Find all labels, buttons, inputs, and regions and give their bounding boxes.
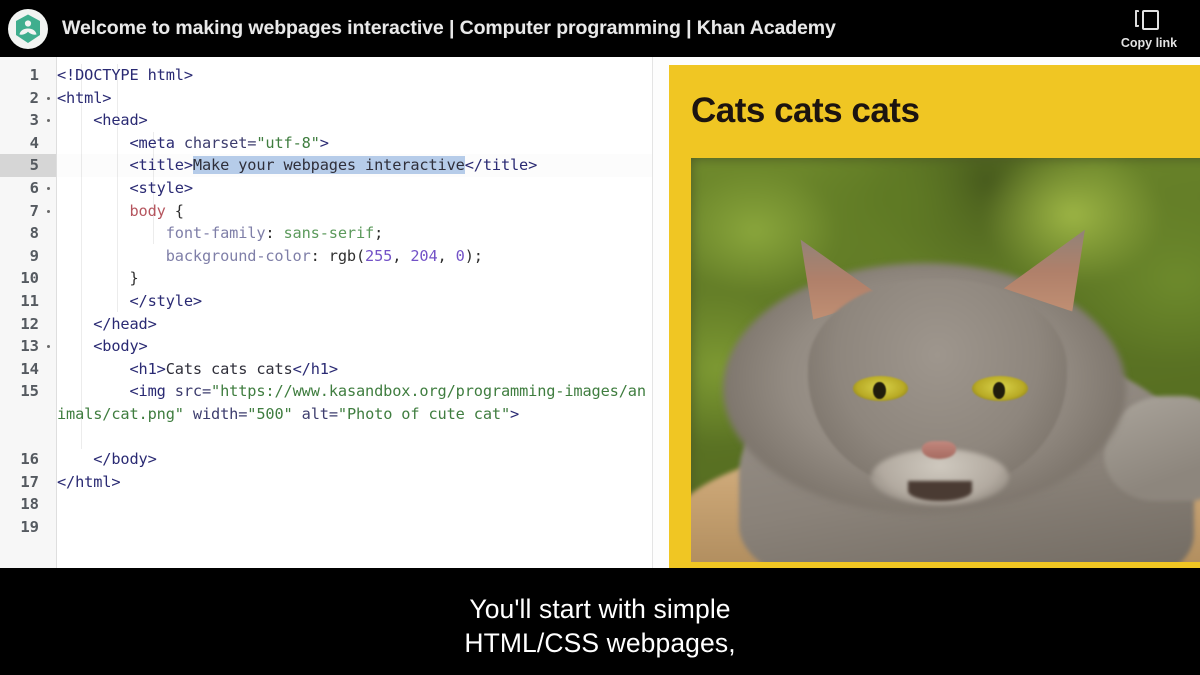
preview-pane[interactable]: Cats cats cats [653, 57, 1200, 568]
fold-marker-icon[interactable] [47, 119, 50, 122]
line-number-gutter: 1 2 3 4 5 6 7 8 9 10 11 12 13 14 15 16 1… [0, 57, 57, 568]
gutter-line[interactable]: 2 [0, 87, 56, 110]
copy-link-label: Copy link [1121, 37, 1177, 50]
code-line-19-empty[interactable] [57, 493, 652, 516]
code-line-15[interactable]: <img src="https://www.kasandbox.org/prog… [57, 380, 652, 425]
code-line-11[interactable]: </style> [57, 290, 652, 313]
fold-marker-icon[interactable] [47, 345, 50, 348]
gutter-line[interactable]: 15 [0, 380, 56, 403]
code-text-area[interactable]: <!DOCTYPE html> <html> <head> <meta char… [57, 57, 652, 568]
video-title-bar: Welcome to making webpages interactive |… [0, 0, 1200, 57]
logo-circle [8, 9, 48, 49]
code-selection[interactable]: Make your webpages interactive [193, 156, 465, 174]
fold-marker-icon[interactable] [47, 187, 50, 190]
gutter-line-wrap-continuation [0, 403, 56, 426]
gutter-line[interactable]: 16 [0, 448, 56, 471]
code-line-17[interactable]: </body> [57, 448, 652, 471]
code-line-12[interactable]: </head> [57, 313, 652, 336]
code-line-4[interactable]: <meta charset="utf-8"> [57, 132, 652, 155]
code-line-6[interactable]: <style> [57, 177, 652, 200]
gutter-line[interactable]: 4 [0, 132, 56, 155]
page-title: Welcome to making webpages interactive |… [62, 19, 836, 39]
code-line-16-empty[interactable] [57, 426, 652, 449]
code-line-5-active[interactable]: <title>Make your webpages interactive</t… [57, 154, 652, 177]
code-line-1[interactable]: <!DOCTYPE html> [57, 64, 652, 87]
code-line-3[interactable]: <head> [57, 109, 652, 132]
copy-icon [1134, 8, 1164, 34]
gutter-line-active[interactable]: 5 [0, 154, 56, 177]
copy-icon-front-square [1142, 10, 1159, 30]
copy-icon-back-square [1135, 10, 1139, 27]
subtitle-line-2: HTML/CSS webpages, [464, 628, 735, 659]
code-editor[interactable]: 1 2 3 4 5 6 7 8 9 10 11 12 13 14 15 16 1… [0, 57, 653, 568]
gutter-line[interactable]: 14 [0, 358, 56, 381]
code-line-8[interactable]: font-family: sans-serif; [57, 222, 652, 245]
gutter-line[interactable]: 8 [0, 222, 56, 245]
gutter-line[interactable]: 17 [0, 471, 56, 494]
code-line-2[interactable]: <html> [57, 87, 652, 110]
fold-marker-icon[interactable] [47, 210, 50, 213]
cat-photo [691, 158, 1200, 562]
gutter-line[interactable]: 1 [0, 64, 56, 87]
khan-academy-leaf-shield-logo [13, 13, 43, 45]
khan-academy-logo[interactable] [0, 0, 56, 57]
code-line-10[interactable]: } [57, 267, 652, 290]
code-line-13[interactable]: <body> [57, 335, 652, 358]
code-line-9[interactable]: background-color: rgb(255, 204, 0); [57, 245, 652, 268]
preview-heading: Cats cats cats [691, 93, 1200, 128]
gutter-line[interactable]: 9 [0, 245, 56, 268]
subtitle-bar: You'll start with simple HTML/CSS webpag… [0, 568, 1200, 675]
copy-link-button[interactable]: Copy link [1106, 0, 1192, 57]
gutter-line[interactable]: 11 [0, 290, 56, 313]
video-player: Welcome to making webpages interactive |… [0, 0, 1200, 675]
code-line-14[interactable]: <h1>Cats cats cats</h1> [57, 358, 652, 381]
gutter-line[interactable]: 18 [0, 493, 56, 516]
editor-preview-split: 1 2 3 4 5 6 7 8 9 10 11 12 13 14 15 16 1… [0, 57, 1200, 568]
cat-pupil-left [873, 382, 886, 399]
gutter-line[interactable]: 3 [0, 109, 56, 132]
cat-figure [691, 158, 1200, 562]
gutter-line[interactable]: 6 [0, 177, 56, 200]
gutter-line[interactable]: 19 [0, 516, 56, 539]
gutter-line[interactable]: 10 [0, 267, 56, 290]
gutter-line-wrap-continuation [0, 426, 56, 449]
code-line-7[interactable]: body { [57, 200, 652, 223]
code-line-18[interactable]: </html> [57, 471, 652, 494]
gutter-line[interactable]: 12 [0, 313, 56, 336]
gutter-line[interactable]: 13 [0, 335, 56, 358]
rendered-webpage: Cats cats cats [669, 65, 1200, 568]
gutter-line[interactable]: 7 [0, 200, 56, 223]
subtitle-line-1: You'll start with simple [469, 594, 730, 625]
fold-marker-icon[interactable] [47, 97, 50, 100]
